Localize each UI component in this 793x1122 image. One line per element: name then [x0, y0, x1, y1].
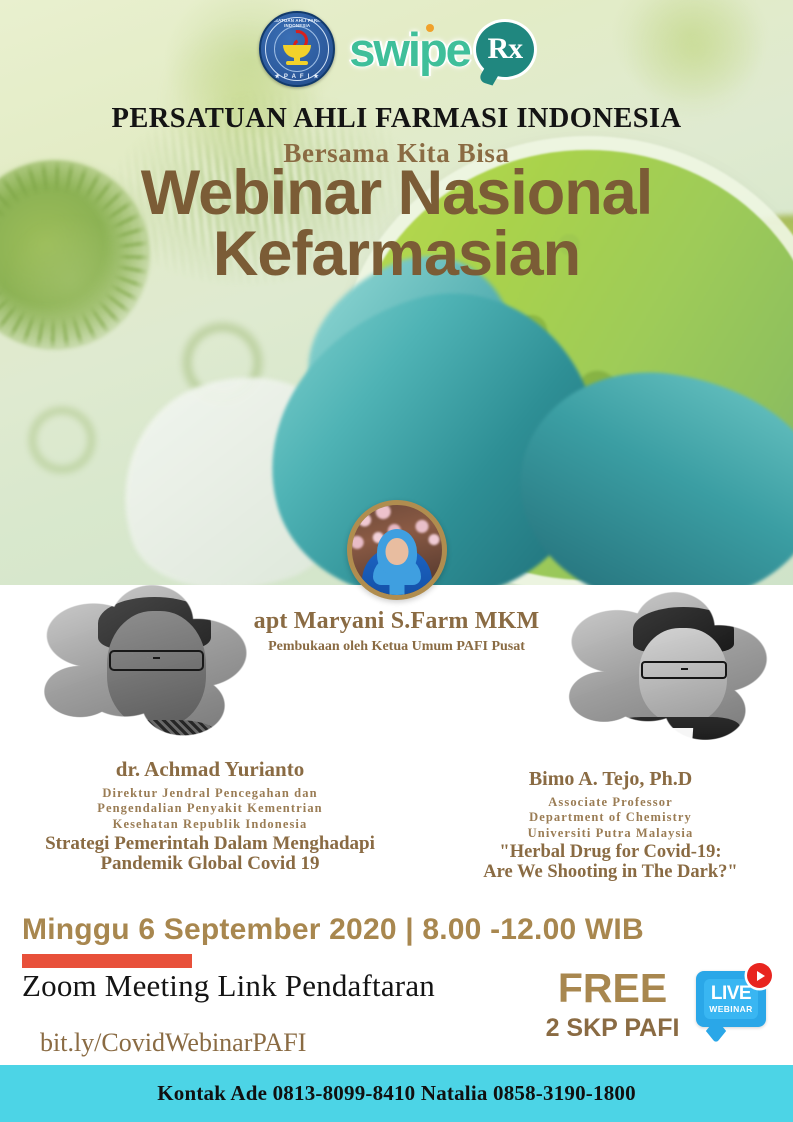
glasses-icon	[641, 661, 727, 680]
topic-line: Are We Shooting in The Dark?"	[428, 863, 793, 883]
price-label: FREE	[530, 968, 695, 1009]
swipe-dot-icon	[426, 24, 434, 32]
page-title: Webinar Nasional Kefarmasian	[0, 163, 793, 285]
topic-line: "Herbal Drug for Covid-19:	[428, 843, 793, 863]
badge-inner: LIVE WEBINAR	[704, 979, 758, 1019]
rx-text: Rx	[487, 34, 522, 64]
contact-footer: Kontak Ade 0813-8099-8410 Natalia 0858-3…	[0, 1065, 793, 1122]
speaker-info-right: Bimo A. Tejo, Ph.D Associate Professor D…	[428, 768, 793, 883]
affiliation-line: Pengendalian Penyakit Kementrian	[0, 801, 420, 816]
center-speaker-role: Pembukaan oleh Ketua Umum PAFI Pusat	[0, 639, 793, 655]
play-button-icon	[747, 963, 772, 988]
swipe-wordmark: swipe	[349, 26, 470, 73]
affiliation-line: Associate Professor	[428, 795, 793, 810]
affiliation-line: Direktur Jendral Pencegahan dan	[0, 786, 420, 801]
portrait-shirt	[656, 728, 694, 762]
rx-speech-bubble-icon: Rx	[476, 22, 534, 77]
center-speaker-block: apt Maryani S.Farm MKM Pembukaan oleh Ke…	[0, 500, 793, 655]
webinar-poster: PERSATUAN AHLI FARMASI INDONESIA ★ P A F…	[0, 0, 793, 1122]
registration-link[interactable]: bit.ly/CovidWebinarPAFI	[40, 1028, 306, 1058]
title-line-1: Webinar Nasional	[141, 158, 652, 228]
avatar-lapel	[389, 567, 404, 595]
speaker-topic: Strategi Pemerintah Dalam Menghadapi Pan…	[0, 834, 420, 875]
swiperx-logo: swipe Rx	[349, 22, 534, 77]
bowl-base	[286, 61, 308, 65]
pafi-ring-text: PERSATUAN AHLI FARMASI INDONESIA	[261, 18, 333, 28]
badge-live-text: LIVE	[711, 984, 751, 1003]
accent-bar	[22, 954, 192, 968]
logo-row: PERSATUAN AHLI FARMASI INDONESIA ★ P A F…	[0, 8, 793, 90]
avatar	[347, 500, 447, 600]
speaker-name: dr. Achmad Yurianto	[0, 757, 420, 782]
organization-name: PERSATUAN AHLI FARMASI INDONESIA	[0, 103, 793, 135]
contact-text: Kontak Ade 0813-8099-8410 Natalia 0858-3…	[157, 1081, 636, 1106]
registration-label: Zoom Meeting Link Pendaftaran	[22, 968, 435, 1004]
live-webinar-badge: LIVE WEBINAR	[696, 967, 770, 1039]
speaker-name: Bimo A. Tejo, Ph.D	[428, 768, 793, 791]
affiliation-line: Kesehatan Republik Indonesia	[0, 817, 420, 832]
speaker-affiliation: Associate Professor Department of Chemis…	[428, 795, 793, 841]
affiliation-line: Department of Chemistry	[428, 810, 793, 825]
title-line-2: Kefarmasian	[0, 224, 793, 285]
portrait-batik-collar	[89, 720, 215, 759]
topic-line: Strategi Pemerintah Dalam Menghadapi	[0, 834, 420, 855]
speaker-topic: "Herbal Drug for Covid-19: Are We Shooti…	[428, 843, 793, 883]
topic-line: Pandemik Global Covid 19	[0, 854, 420, 875]
badge-webinar-text: WEBINAR	[709, 1004, 752, 1014]
avatar-face	[385, 538, 408, 565]
center-speaker-name: apt Maryani S.Farm MKM	[0, 608, 793, 635]
swipe-wordmark-text: swipe	[349, 23, 470, 76]
price-block: FREE 2 SKP PAFI	[530, 968, 695, 1043]
speaker-info-left: dr. Achmad Yurianto Direktur Jendral Pen…	[0, 757, 420, 875]
pafi-seal-icon: PERSATUAN AHLI FARMASI INDONESIA ★ P A F…	[259, 11, 335, 87]
credits-label: 2 SKP PAFI	[530, 1014, 695, 1043]
event-datetime: Minggu 6 September 2020 | 8.00 -12.00 WI…	[22, 913, 644, 947]
bowl-of-hygieia-icon	[277, 31, 317, 65]
speaker-affiliation: Direktur Jendral Pencegahan dan Pengenda…	[0, 786, 420, 832]
affiliation-line: Universiti Putra Malaysia	[428, 826, 793, 841]
pafi-acronym-text: ★ P A F I ★	[261, 73, 333, 80]
cell-ring-icon	[22, 400, 102, 480]
